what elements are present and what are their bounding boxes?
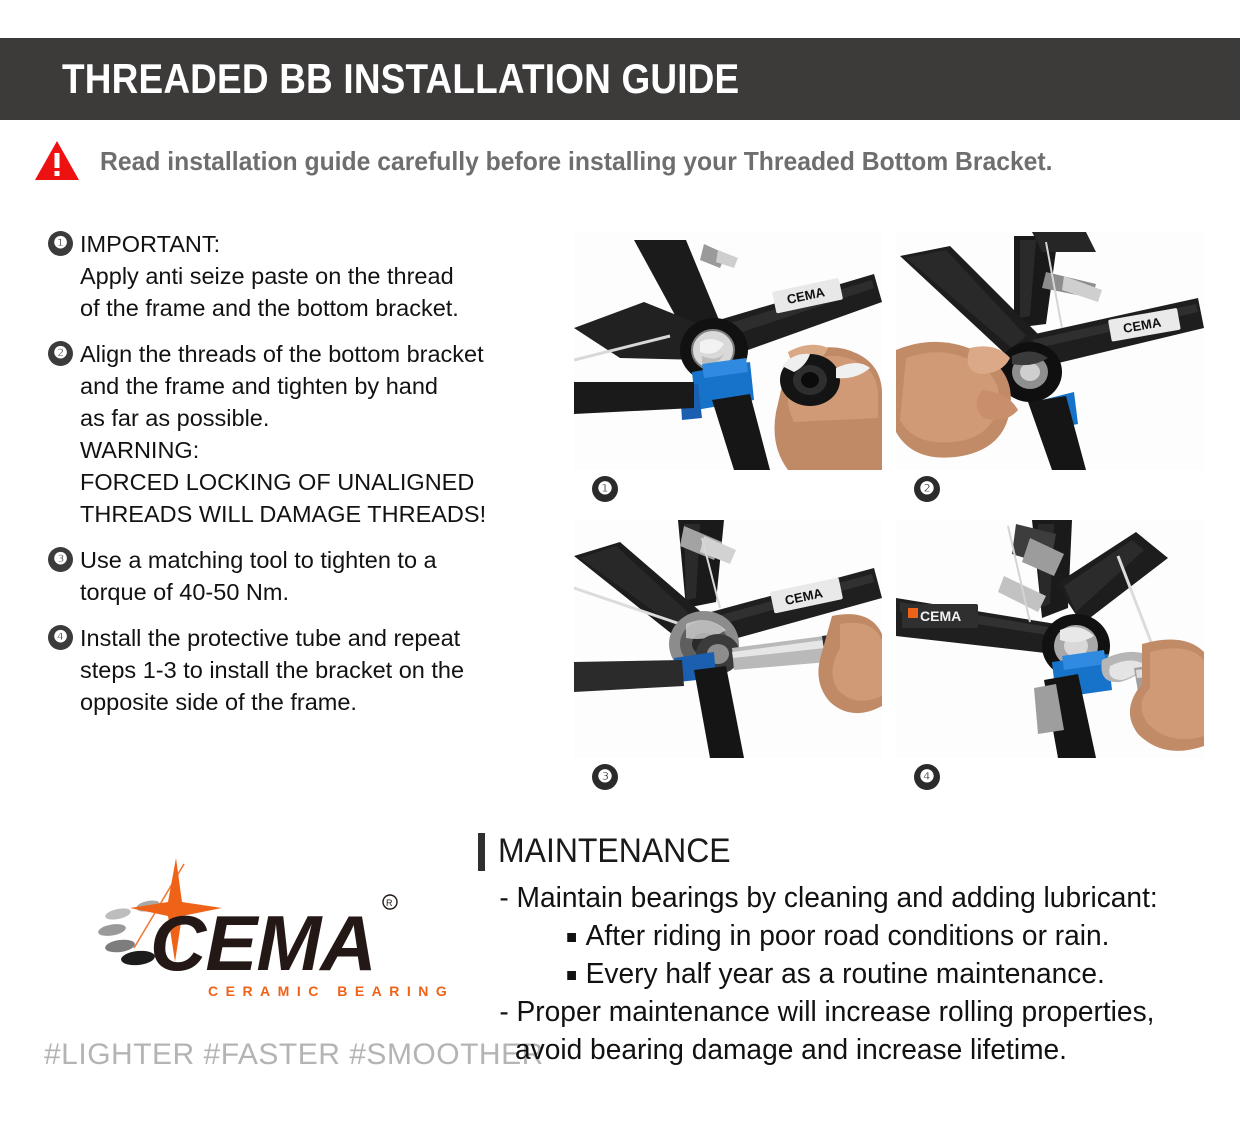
step-line: steps 1-3 to install the bracket on the: [80, 654, 464, 686]
photo-caption-2: ❷: [914, 476, 940, 502]
photo-cell-4: CEMA ❹: [896, 520, 1204, 792]
step-line: Apply anti seize paste on the thread: [80, 260, 459, 292]
photo-grid: CEMA ❶: [574, 232, 1204, 792]
step-line: IMPORTANT:: [80, 228, 459, 260]
step-line: of the frame and the bottom bracket.: [80, 292, 459, 324]
step-line: THREADS WILL DAMAGE THREADS!: [80, 498, 486, 530]
photo-decal-text: CEMA: [920, 608, 961, 624]
step-line: Install the protective tube and repeat: [80, 622, 464, 654]
warning-banner: Read installation guide carefully before…: [34, 140, 1103, 182]
maintenance-text: After riding in poor road conditions or …: [586, 920, 1110, 952]
step-line: Align the threads of the bottom bracket: [80, 338, 486, 370]
step-line: Use a matching tool to tighten to a: [80, 544, 437, 576]
dash-bullet: -: [499, 882, 516, 914]
maintenance-text: Maintain bearings by cleaning and adding…: [517, 882, 1158, 914]
maintenance-text: Proper maintenance will increase rolling…: [517, 996, 1155, 1028]
section-accent-bar: [478, 833, 485, 871]
photo-cell-3: CEMA ❸: [574, 520, 882, 792]
step-number-badge: ❶: [48, 231, 73, 256]
photo-step-2: CEMA: [896, 232, 1204, 470]
photo-step-4: CEMA: [896, 520, 1204, 758]
photo-step-3: CEMA: [574, 520, 882, 758]
maintenance-line: After riding in poor road conditions or …: [478, 917, 1196, 955]
maintenance-line: - Maintain bearings by cleaning and addi…: [478, 879, 1196, 917]
photo-cell-2: CEMA ❷: [896, 232, 1204, 504]
logo-registered-mark: R: [386, 898, 393, 908]
step-item: ❷ Align the threads of the bottom bracke…: [48, 338, 568, 530]
maintenance-line: avoid bearing damage and increase lifeti…: [478, 1031, 1196, 1069]
warning-triangle-icon: [34, 140, 80, 182]
step-line: torque of 40-50 Nm.: [80, 576, 437, 608]
step-line: FORCED LOCKING OF UNALIGNED: [80, 466, 486, 498]
maintenance-line: - Proper maintenance will increase rolli…: [478, 993, 1196, 1031]
maintenance-header: MAINTENANCE: [478, 832, 1218, 871]
step-text: Install the protective tube and repeat s…: [80, 622, 464, 718]
brand-tagline: #LIGHTER #FASTER #SMOOTHER: [44, 1038, 544, 1072]
step-item: ❸ Use a matching tool to tighten to a to…: [48, 544, 568, 608]
photo-caption-1: ❶: [592, 476, 618, 502]
step-text: IMPORTANT: Apply anti seize paste on the…: [80, 228, 459, 324]
square-bullet-icon: [567, 933, 576, 942]
step-line: and the frame and tighten by hand: [80, 370, 486, 402]
maintenance-text: Every half year as a routine maintenance…: [586, 958, 1105, 990]
cema-logo: CEMA R CERAMIC BEARING: [72, 858, 472, 1008]
step-number-badge: ❸: [48, 547, 73, 572]
step-text: Use a matching tool to tighten to a torq…: [80, 544, 437, 608]
square-bullet-icon: [567, 971, 576, 980]
maintenance-title: MAINTENANCE: [498, 832, 731, 871]
step-number-badge: ❹: [48, 625, 73, 650]
step-line: as far as possible.: [80, 402, 486, 434]
photo-caption-3: ❸: [592, 764, 618, 790]
step-number-badge: ❷: [48, 341, 73, 366]
maintenance-section: MAINTENANCE - Maintain bearings by clean…: [478, 832, 1218, 1069]
step-line: opposite side of the frame.: [80, 686, 464, 718]
indent-spacer: [499, 1034, 515, 1066]
page-title: THREADED BB INSTALLATION GUIDE: [62, 55, 739, 103]
photo-cell-1: CEMA ❶: [574, 232, 882, 504]
warning-text: Read installation guide carefully before…: [100, 146, 1053, 177]
maintenance-text: avoid bearing damage and increase lifeti…: [515, 1034, 1067, 1066]
logo-subtitle: CERAMIC BEARING: [208, 983, 454, 999]
logo-wordmark: CEMA: [150, 899, 376, 987]
photo-caption-4: ❹: [914, 764, 940, 790]
step-text: Align the threads of the bottom bracket …: [80, 338, 486, 530]
dash-bullet: -: [499, 996, 516, 1028]
step-item: ❶ IMPORTANT: Apply anti seize paste on t…: [48, 228, 568, 324]
step-line: WARNING:: [80, 434, 486, 466]
header-bar: THREADED BB INSTALLATION GUIDE: [0, 38, 1240, 120]
maintenance-line: Every half year as a routine maintenance…: [478, 955, 1196, 993]
instruction-steps: ❶ IMPORTANT: Apply anti seize paste on t…: [48, 228, 568, 732]
photo-step-1: CEMA: [574, 232, 882, 470]
step-item: ❹ Install the protective tube and repeat…: [48, 622, 568, 718]
